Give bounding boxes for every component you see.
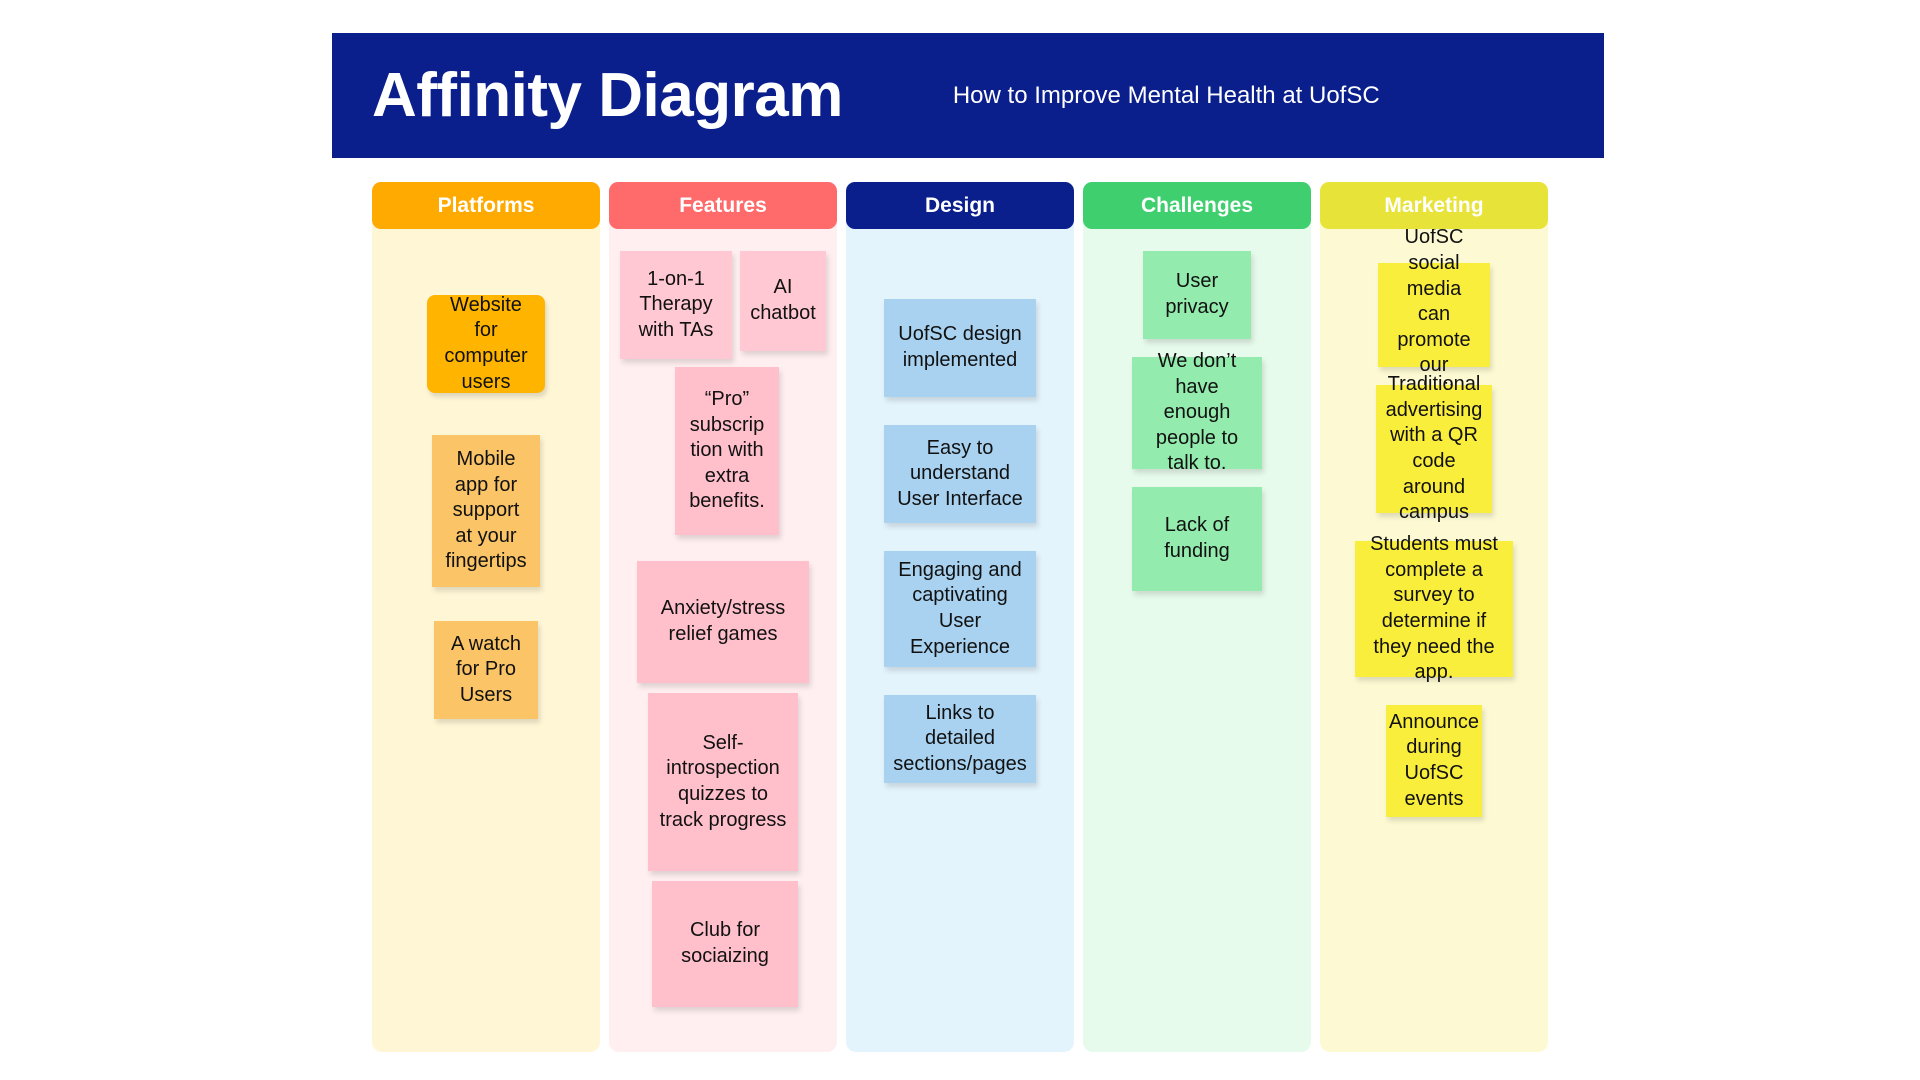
column-header-label: Design	[925, 195, 995, 216]
sticky-note-text: “Pro” subscrip tion with extra benefits.	[685, 387, 769, 515]
column-header-label: Features	[679, 195, 767, 216]
sticky-note[interactable]: 1-on-1 Therapy with TAs	[620, 251, 732, 359]
sticky-note[interactable]: UofSC social media can promote our websi…	[1378, 263, 1490, 367]
columns-container: PlatformsWebsite for computer usersMobil…	[372, 182, 1572, 1052]
column-marketing: MarketingUofSC social media can promote …	[1320, 182, 1548, 1052]
sticky-note-text: Self-introspection quizzes to track prog…	[658, 731, 788, 833]
column-header-design[interactable]: Design	[846, 182, 1074, 229]
sticky-note[interactable]: A watch for Pro Users	[434, 621, 538, 719]
sticky-note-text: 1-on-1 Therapy with TAs	[630, 267, 722, 344]
sticky-note-text: Announce during UofSC events	[1389, 710, 1479, 812]
column-header-label: Marketing	[1384, 195, 1483, 216]
sticky-note-text: AI chatbot	[750, 275, 816, 326]
column-header-platforms[interactable]: Platforms	[372, 182, 600, 229]
column-header-challenges[interactable]: Challenges	[1083, 182, 1311, 229]
cards-challenges: User privacyWe don’t have enough people …	[1083, 229, 1311, 1052]
sticky-note-row: 1-on-1 Therapy with TAsAI chatbot	[609, 251, 837, 359]
sticky-note[interactable]: Engaging and captivating User Experience	[884, 551, 1036, 667]
sticky-note-text: We don’t have enough people to talk to.	[1142, 349, 1252, 477]
page-title: Affinity Diagram	[372, 65, 843, 127]
cards-features: 1-on-1 Therapy with TAsAI chatbot“Pro” s…	[609, 229, 837, 1052]
sticky-note[interactable]: AI chatbot	[740, 251, 826, 351]
sticky-note[interactable]: User privacy	[1143, 251, 1251, 339]
column-header-label: Challenges	[1141, 195, 1253, 216]
sticky-note[interactable]: We don’t have enough people to talk to.	[1132, 357, 1262, 469]
sticky-note-text: Anxiety/stress relief games	[647, 596, 799, 647]
sticky-note[interactable]: Announce during UofSC events	[1386, 705, 1482, 817]
title-banner: Affinity Diagram How to Improve Mental H…	[332, 33, 1604, 158]
sticky-note[interactable]: Club for sociaizing	[652, 881, 798, 1007]
sticky-note-text: Lack of funding	[1142, 513, 1252, 564]
sticky-note-text: Easy to understand User Interface	[894, 436, 1026, 513]
column-platforms: PlatformsWebsite for computer usersMobil…	[372, 182, 600, 1052]
sticky-note[interactable]: Self-introspection quizzes to track prog…	[648, 693, 798, 871]
sticky-note-text: Traditional advertising with a QR code a…	[1386, 372, 1483, 526]
sticky-note-text: Website for computer users	[437, 293, 535, 395]
sticky-note-text: User privacy	[1153, 269, 1241, 320]
sticky-note-text: UofSC design implemented	[894, 322, 1026, 373]
sticky-note-text: Club for sociaizing	[662, 918, 788, 969]
sticky-note-text: A watch for Pro Users	[444, 632, 528, 709]
page-subtitle: How to Improve Mental Health at UofSC	[953, 82, 1380, 110]
sticky-note[interactable]: Easy to understand User Interface	[884, 425, 1036, 523]
affinity-diagram-canvas: Affinity Diagram How to Improve Mental H…	[0, 0, 1920, 1080]
sticky-note[interactable]: Mobile app for support at your fingertip…	[432, 435, 540, 587]
sticky-note-text: Mobile app for support at your fingertip…	[442, 447, 530, 575]
sticky-note[interactable]: Traditional advertising with a QR code a…	[1376, 385, 1492, 513]
cards-design: UofSC design implementedEasy to understa…	[846, 229, 1074, 1052]
sticky-note-text: Students must complete a survey to deter…	[1365, 532, 1503, 686]
cards-marketing: UofSC social media can promote our websi…	[1320, 229, 1548, 1052]
sticky-note[interactable]: Website for computer users	[427, 295, 545, 393]
column-header-features[interactable]: Features	[609, 182, 837, 229]
sticky-note[interactable]: Links to detailed sections/pages	[884, 695, 1036, 783]
sticky-note[interactable]: “Pro” subscrip tion with extra benefits.	[675, 367, 779, 535]
column-features: Features1-on-1 Therapy with TAsAI chatbo…	[609, 182, 837, 1052]
column-header-label: Platforms	[438, 195, 535, 216]
sticky-note[interactable]: Anxiety/stress relief games	[637, 561, 809, 683]
sticky-note[interactable]: UofSC design implemented	[884, 299, 1036, 397]
column-header-marketing[interactable]: Marketing	[1320, 182, 1548, 229]
sticky-note-text: Engaging and captivating User Experience	[894, 558, 1026, 660]
sticky-note[interactable]: Lack of funding	[1132, 487, 1262, 591]
sticky-note-text: Links to detailed sections/pages	[893, 701, 1026, 778]
sticky-note[interactable]: Students must complete a survey to deter…	[1355, 541, 1513, 677]
cards-platforms: Website for computer usersMobile app for…	[372, 229, 600, 1052]
column-design: DesignUofSC design implementedEasy to un…	[846, 182, 1074, 1052]
column-challenges: ChallengesUser privacyWe don’t have enou…	[1083, 182, 1311, 1052]
